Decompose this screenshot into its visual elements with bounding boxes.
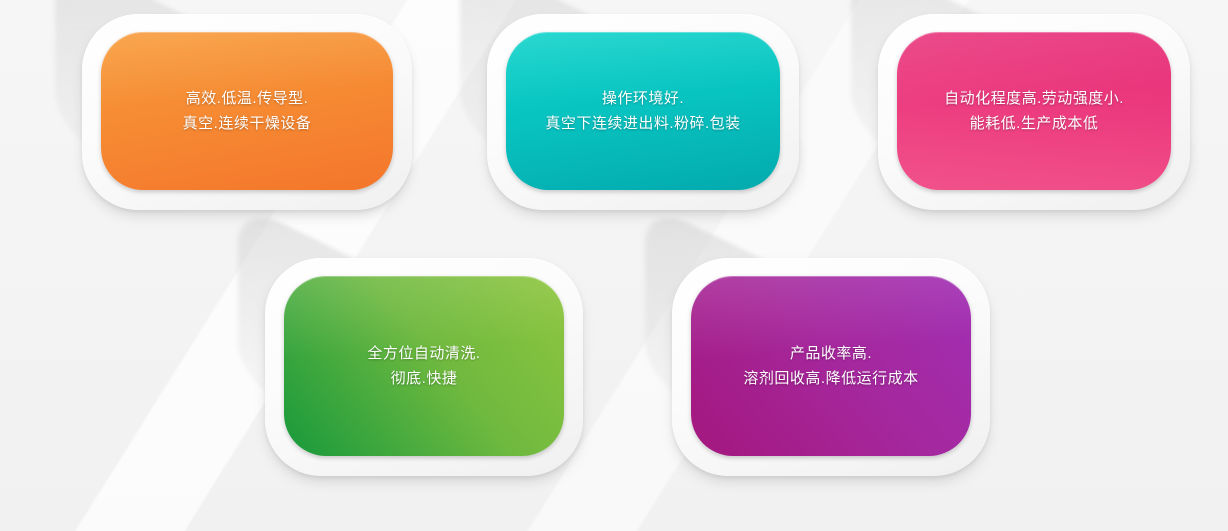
- feature-card-text-green: 全方位自动清洗. 彻底.快捷: [353, 341, 494, 391]
- feature-card-text-orange: 高效.低温.传导型. 真空.连续干燥设备: [169, 86, 326, 136]
- feature-card-inner-orange: 高效.低温.传导型. 真空.连续干燥设备: [101, 32, 393, 190]
- feature-card-inner-green: 全方位自动清洗. 彻底.快捷: [284, 276, 564, 456]
- feature-card-green[interactable]: 全方位自动清洗. 彻底.快捷: [265, 258, 583, 476]
- feature-card-orange[interactable]: 高效.低温.传导型. 真空.连续干燥设备: [82, 14, 412, 210]
- feature-card-text-pink: 自动化程度高.劳动强度小. 能耗低.生产成本低: [930, 86, 1138, 136]
- feature-card-teal[interactable]: 操作环境好. 真空下连续进出料.粉碎.包装: [487, 14, 799, 210]
- feature-card-inner-teal: 操作环境好. 真空下连续进出料.粉碎.包装: [506, 32, 780, 190]
- feature-card-pink[interactable]: 自动化程度高.劳动强度小. 能耗低.生产成本低: [878, 14, 1190, 210]
- feature-card-text-teal: 操作环境好. 真空下连续进出料.粉碎.包装: [531, 86, 754, 136]
- feature-card-inner-purple: 产品收率高. 溶剂回收高.降低运行成本: [691, 276, 971, 456]
- feature-card-inner-pink: 自动化程度高.劳动强度小. 能耗低.生产成本低: [897, 32, 1171, 190]
- feature-card-text-purple: 产品收率高. 溶剂回收高.降低运行成本: [729, 341, 932, 391]
- feature-card-purple[interactable]: 产品收率高. 溶剂回收高.降低运行成本: [672, 258, 990, 476]
